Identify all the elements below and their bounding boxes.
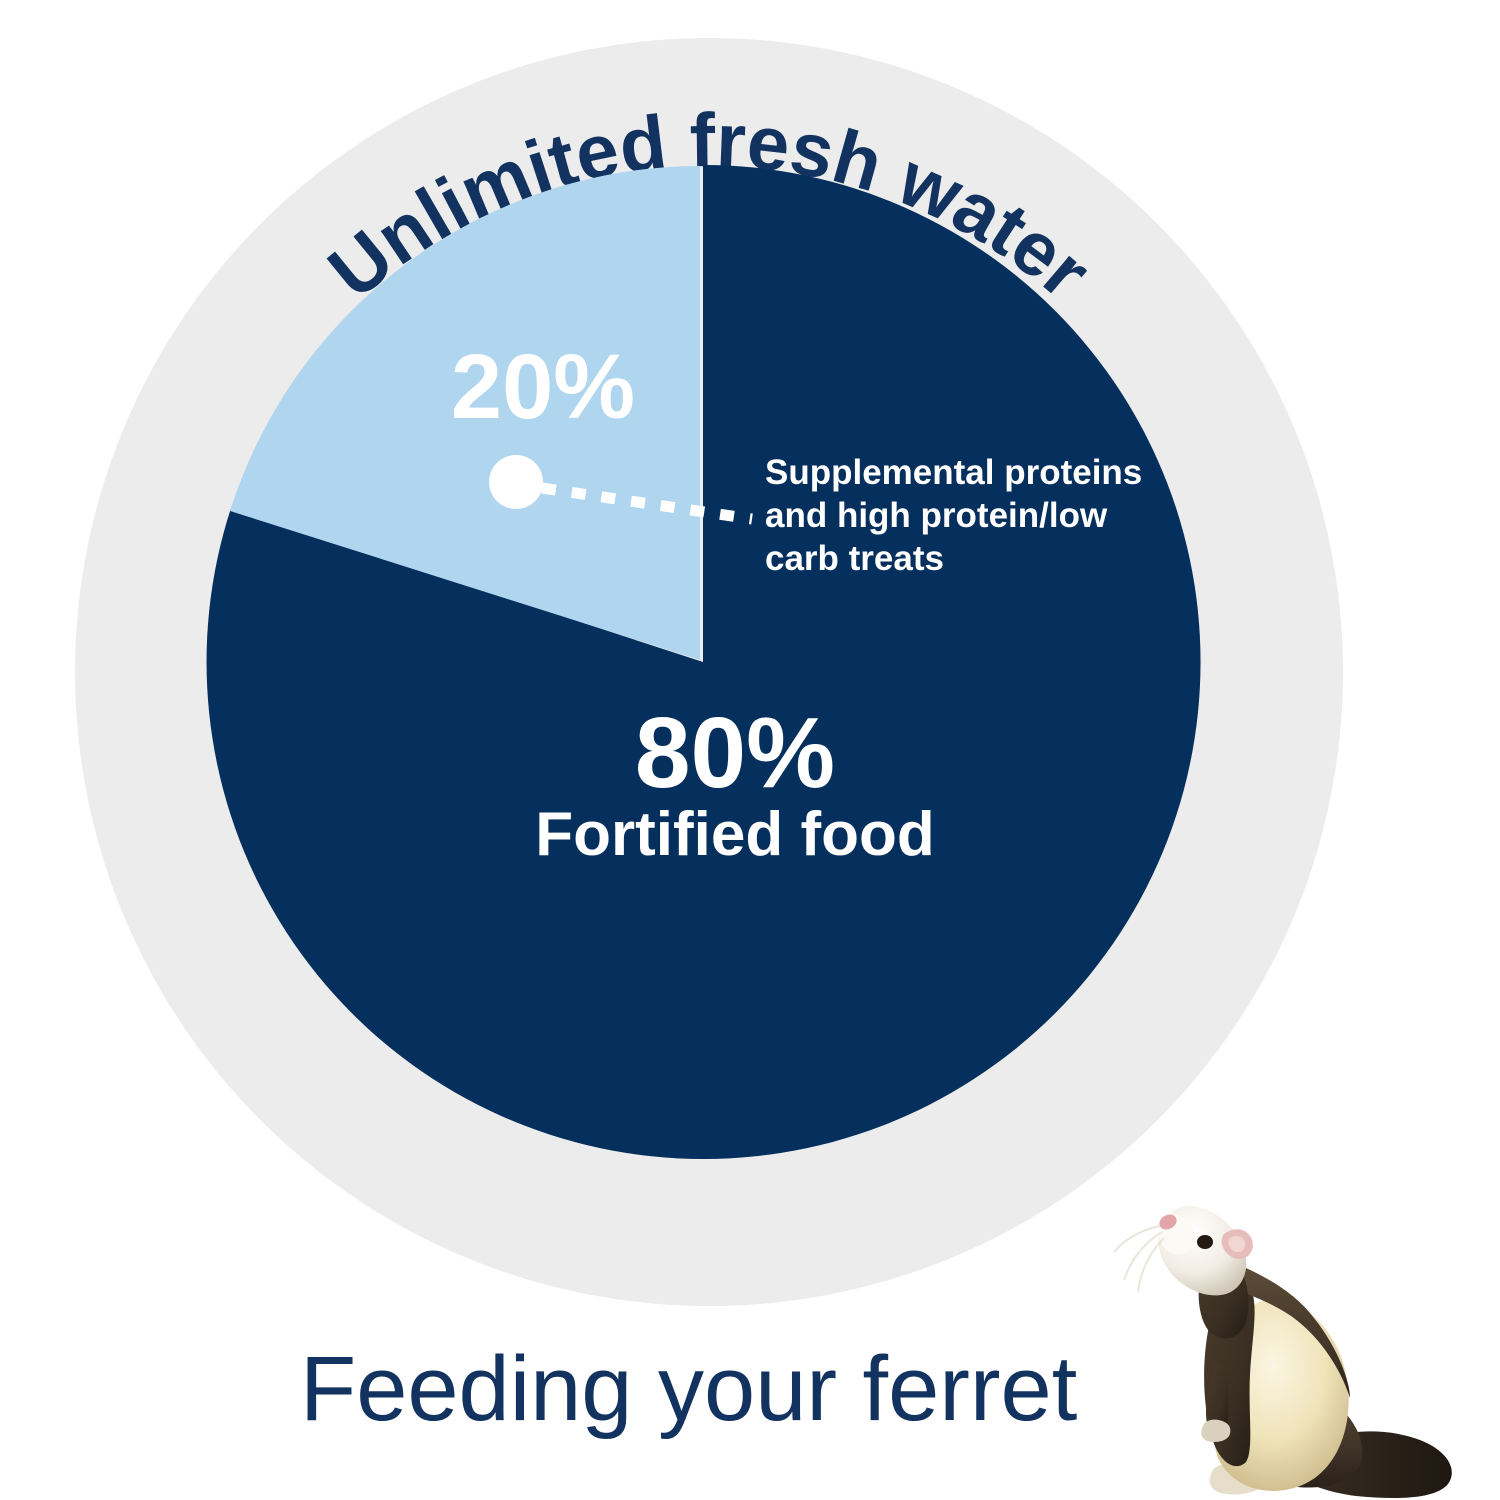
callout-dot bbox=[489, 455, 543, 509]
page-caption: Feeding your ferret bbox=[300, 1338, 1077, 1440]
dark-slice-percent-label: 80% bbox=[635, 697, 835, 809]
feeding-your-ferret-infographic: Unlimited fresh water 20% Supplemental p… bbox=[0, 0, 1500, 1500]
pie-chart bbox=[207, 165, 1201, 1159]
ferret-front-paw bbox=[1201, 1420, 1230, 1442]
callout-line-3: carb treats bbox=[765, 539, 944, 578]
callout-line-2: and high protein/low bbox=[765, 496, 1108, 535]
ferret-whiskers bbox=[1114, 1226, 1164, 1292]
callout-line-1: Supplemental proteins bbox=[765, 453, 1142, 492]
ferret-photo bbox=[1114, 1206, 1452, 1498]
ferret-eye bbox=[1197, 1235, 1213, 1249]
dark-slice-sub-label: Fortified food bbox=[535, 800, 934, 869]
light-slice-percent-label: 20% bbox=[451, 336, 635, 438]
